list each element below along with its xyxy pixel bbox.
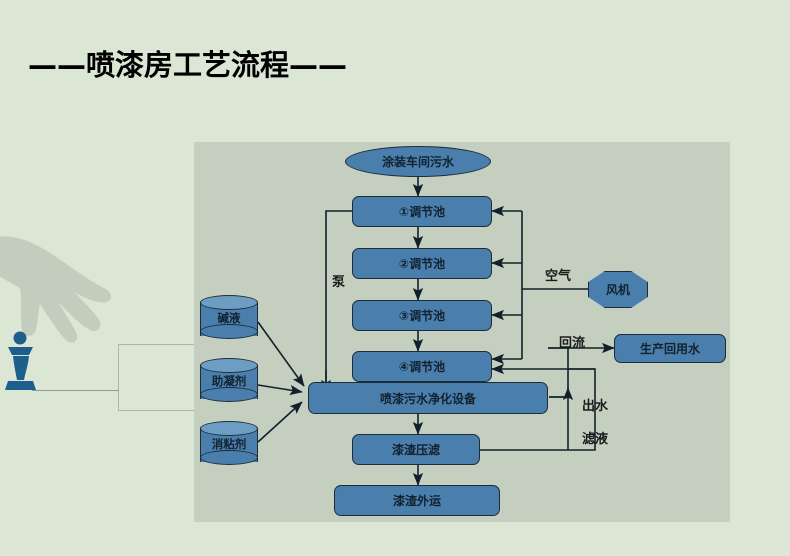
node-dosing-coagulant-aid[interactable]: 助凝剂 xyxy=(200,357,258,403)
node-pool-3-label: ③调节池 xyxy=(399,307,445,324)
node-sludge-press-label: 漆渣压滤 xyxy=(392,441,440,458)
decorative-connector-line xyxy=(32,390,119,391)
node-dosing-coagulant-aid-label: 助凝剂 xyxy=(200,371,258,391)
edge-label-return: 回流 xyxy=(559,332,585,351)
node-pool-1[interactable]: ①调节池 xyxy=(352,196,492,227)
node-dosing-detackifier-label: 消粘剂 xyxy=(200,434,258,454)
node-pool-4-label: ④调节池 xyxy=(399,358,445,375)
node-dosing-detackifier[interactable]: 消粘剂 xyxy=(200,420,258,466)
node-reuse-water[interactable]: 生产回用水 xyxy=(614,334,726,363)
edge-label-effluent: 出水 xyxy=(582,395,608,414)
node-source-wastewater[interactable]: 涂装车间污水 xyxy=(345,146,491,177)
edge-label-pump: 泵 xyxy=(332,271,345,290)
node-reuse-water-label: 生产回用水 xyxy=(640,340,700,357)
slide-root: ——喷漆房工艺流程—— xyxy=(0,0,790,556)
node-pool-4[interactable]: ④调节池 xyxy=(352,351,492,382)
node-sludge-press[interactable]: 漆渣压滤 xyxy=(352,434,480,465)
node-dosing-alkali-label: 碱液 xyxy=(200,308,258,328)
node-source-wastewater-label: 涂装车间污水 xyxy=(382,153,454,170)
node-blower[interactable]: 风机 xyxy=(588,271,648,308)
node-dosing-alkali[interactable]: 碱液 xyxy=(200,294,258,340)
chess-queen-piece-icon xyxy=(2,330,42,392)
hand-silhouette-icon xyxy=(0,222,120,347)
node-pool-3[interactable]: ③调节池 xyxy=(352,300,492,331)
node-sludge-transport[interactable]: 漆渣外运 xyxy=(334,485,500,516)
node-pool-1-label: ①调节池 xyxy=(399,203,445,220)
node-blower-label: 风机 xyxy=(606,281,630,298)
decorative-placeholder-rect xyxy=(118,344,197,411)
node-purification-equipment-label: 喷漆污水净化设备 xyxy=(380,390,476,407)
title-block: ——喷漆房工艺流程—— xyxy=(28,45,448,93)
page-title: ——喷漆房工艺流程—— xyxy=(28,45,448,85)
node-purification-equipment[interactable]: 喷漆污水净化设备 xyxy=(308,382,548,414)
node-sludge-transport-label: 漆渣外运 xyxy=(393,492,441,509)
edge-label-filtrate: 滤液 xyxy=(582,428,608,447)
node-pool-2[interactable]: ②调节池 xyxy=(352,248,492,279)
node-pool-2-label: ②调节池 xyxy=(399,255,445,272)
edge-label-air: 空气 xyxy=(545,265,571,284)
